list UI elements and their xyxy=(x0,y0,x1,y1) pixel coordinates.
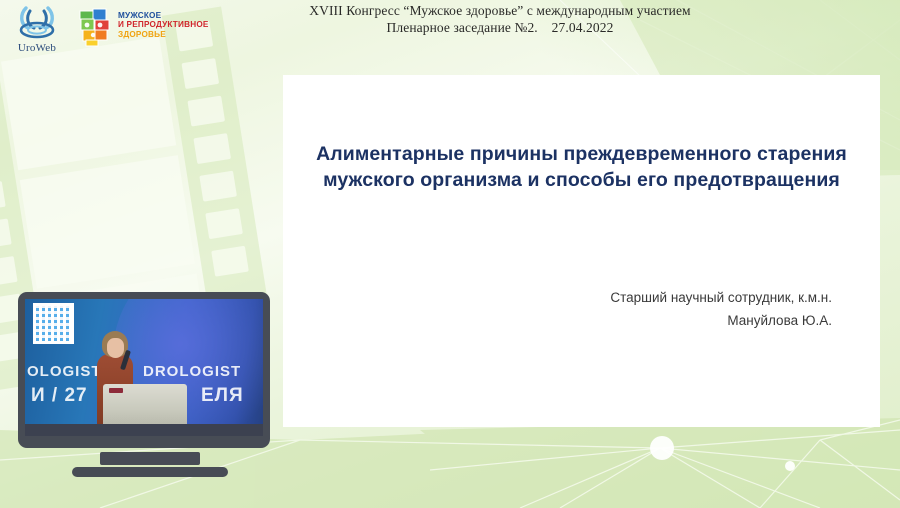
slide-author-block: Старший научный сотрудник, к.м.н. Мануйл… xyxy=(610,286,832,332)
presentation-screenshot: UroWeb МУЖСКОЕ И РЕПРОДУКТИВНОЕ ЗДОРОВЬ xyxy=(0,0,900,508)
header-line-2: Пленарное заседание №2. 27.04.2022 xyxy=(250,19,750,36)
author-role: Старший научный сотрудник, к.м.н. xyxy=(610,286,832,309)
header-line-1: XVIII Конгресс “Мужское здоровье” с межд… xyxy=(250,2,750,19)
monitor-stand-neck xyxy=(100,452,200,465)
slide-panel: Алиментарные причины преждевременного ст… xyxy=(283,75,880,427)
mrz-logo-text: МУЖСКОЕ И РЕПРОДУКТИВНОЕ ЗДОРОВЬЕ xyxy=(118,11,209,39)
uroweb-swirl-icon xyxy=(8,2,66,42)
video-overlay-text-1: OLOGIST xyxy=(27,363,102,380)
slide-title: Алиментарные причины преждевременного ст… xyxy=(313,141,850,193)
uroweb-logo: UroWeb xyxy=(8,2,66,54)
screen-bottom-bar xyxy=(25,424,263,436)
video-overlay-text-2: DROLOGIST xyxy=(143,363,241,380)
qr-code-icon xyxy=(33,303,74,344)
monitor-stand-base xyxy=(72,467,228,477)
mrz-logo: МУЖСКОЕ И РЕПРОДУКТИВНОЕ ЗДОРОВЬЕ xyxy=(78,6,223,48)
congress-header: XVIII Конгресс “Мужское здоровье” с межд… xyxy=(250,2,750,36)
video-overlay-text-4: ЕЛЯ xyxy=(201,385,244,407)
video-overlay-text-3: И / 27 xyxy=(31,385,88,407)
monitor-bezel: OLOGIST DROLOGIST И / 27 ЕЛЯ У ЕЦЕГ xyxy=(18,292,270,448)
video-monitor[interactable]: OLOGIST DROLOGIST И / 27 ЕЛЯ У ЕЦЕГ xyxy=(18,292,270,448)
mrz-line-2: И РЕПРОДУКТИВНОЕ xyxy=(118,20,209,29)
author-name: Мануйлова Ю.А. xyxy=(610,309,832,332)
mrz-line-1: МУЖСКОЕ xyxy=(118,11,209,20)
video-screen[interactable]: OLOGIST DROLOGIST И / 27 ЕЛЯ У ЕЦЕГ xyxy=(25,299,263,436)
puzzle-pieces-icon xyxy=(78,7,114,47)
uroweb-logo-label: UroWeb xyxy=(8,42,66,54)
mrz-line-3: ЗДОРОВЬЕ xyxy=(118,30,209,39)
